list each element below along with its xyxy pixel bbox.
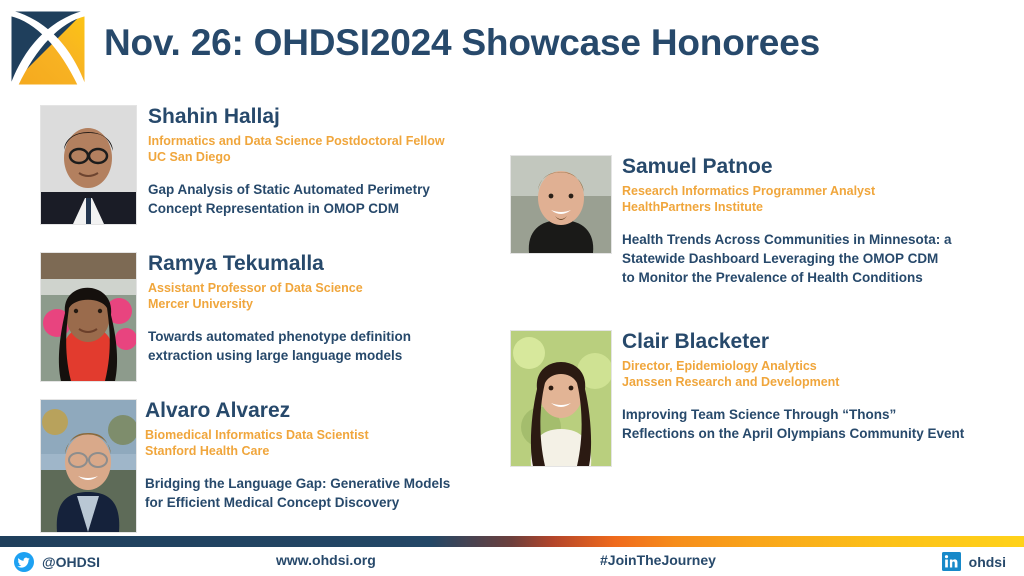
talk-line: for Efficient Medical Concept Discovery [145, 493, 450, 512]
honoree-role: Assistant Professor of Data Science [148, 280, 411, 297]
headshot-photo [40, 399, 137, 533]
honoree-organization: Janssen Research and Development [622, 374, 964, 391]
hashtag-item[interactable]: #JoinTheJourney [600, 552, 716, 568]
talk-line: Concept Representation in OMOP CDM [148, 199, 445, 218]
talk-line: extraction using large language models [148, 346, 411, 365]
honoree-organization: HealthPartners Institute [622, 199, 952, 216]
honoree-role: Informatics and Data Science Postdoctora… [148, 133, 445, 150]
headshot-photo [40, 105, 137, 225]
honoree-talk-title: Gap Analysis of Static Automated Perimet… [148, 180, 445, 218]
linkedin-handle-label: ohdsi [969, 554, 1006, 570]
page-title: Nov. 26: OHDSI2024 Showcase Honorees [104, 22, 820, 64]
talk-line: Gap Analysis of Static Automated Perimet… [148, 180, 445, 199]
twitter-bird-icon [14, 552, 34, 572]
honoree-card: Shahin Hallaj Informatics and Data Scien… [40, 105, 500, 230]
honoree-info: Clair Blacketer Director, Epidemiology A… [622, 330, 964, 443]
footer-gradient-bar [0, 536, 1024, 547]
honoree-talk-title: Bridging the Language Gap: Generative Mo… [145, 474, 450, 512]
honoree-name: Alvaro Alvarez [145, 399, 450, 423]
honoree-card: Alvaro Alvarez Biomedical Informatics Da… [40, 399, 505, 531]
headshot-photo [510, 155, 612, 254]
linkedin-handle-item[interactable]: ohdsi [942, 552, 1006, 571]
twitter-handle-item[interactable]: @OHDSI [14, 552, 100, 572]
hashtag-label: #JoinTheJourney [600, 552, 716, 568]
header: Nov. 26: OHDSI2024 Showcase Honorees [0, 0, 1024, 96]
honoree-organization: Mercer University [148, 296, 411, 313]
headshot-photo [40, 252, 137, 382]
talk-line: Bridging the Language Gap: Generative Mo… [145, 474, 450, 493]
honoree-organization: UC San Diego [148, 149, 445, 166]
honoree-name: Samuel Patnoe [622, 155, 952, 179]
ohdsi-logo [8, 8, 88, 88]
honoree-talk-title: Improving Team Science Through “Thons” R… [622, 405, 964, 443]
headshot-photo [510, 330, 612, 467]
honoree-talk-title: Towards automated phenotype definition e… [148, 327, 411, 365]
talk-line: Towards automated phenotype definition [148, 327, 411, 346]
website-link[interactable]: www.ohdsi.org [276, 552, 376, 568]
honoree-info: Ramya Tekumalla Assistant Professor of D… [148, 252, 411, 365]
honoree-role: Director, Epidemiology Analytics [622, 358, 964, 375]
honoree-name: Ramya Tekumalla [148, 252, 411, 276]
honoree-info: Samuel Patnoe Research Informatics Progr… [622, 155, 952, 287]
talk-line: Reflections on the April Olympians Commu… [622, 424, 964, 443]
honoree-name: Clair Blacketer [622, 330, 964, 354]
honoree-info: Alvaro Alvarez Biomedical Informatics Da… [145, 399, 450, 512]
honoree-card: Clair Blacketer Director, Epidemiology A… [510, 330, 1010, 467]
honoree-name: Shahin Hallaj [148, 105, 445, 129]
honoree-talk-title: Health Trends Across Communities in Minn… [622, 230, 952, 287]
linkedin-icon [942, 552, 961, 571]
talk-line: Health Trends Across Communities in Minn… [622, 230, 952, 249]
honoree-card: Ramya Tekumalla Assistant Professor of D… [40, 252, 500, 380]
honoree-organization: Stanford Health Care [145, 443, 450, 460]
website-label: www.ohdsi.org [276, 552, 376, 568]
talk-line: Statewide Dashboard Leveraging the OMOP … [622, 249, 952, 268]
talk-line: Improving Team Science Through “Thons” [622, 405, 964, 424]
footer: @OHDSI www.ohdsi.org #JoinTheJourney ohd… [0, 547, 1024, 576]
honoree-role: Biomedical Informatics Data Scientist [145, 427, 450, 444]
talk-line: to Monitor the Prevalence of Health Cond… [622, 268, 952, 287]
twitter-handle-label: @OHDSI [42, 554, 100, 570]
honoree-role: Research Informatics Programmer Analyst [622, 183, 952, 200]
honoree-info: Shahin Hallaj Informatics and Data Scien… [148, 105, 445, 218]
honoree-card: Samuel Patnoe Research Informatics Progr… [510, 155, 1010, 293]
